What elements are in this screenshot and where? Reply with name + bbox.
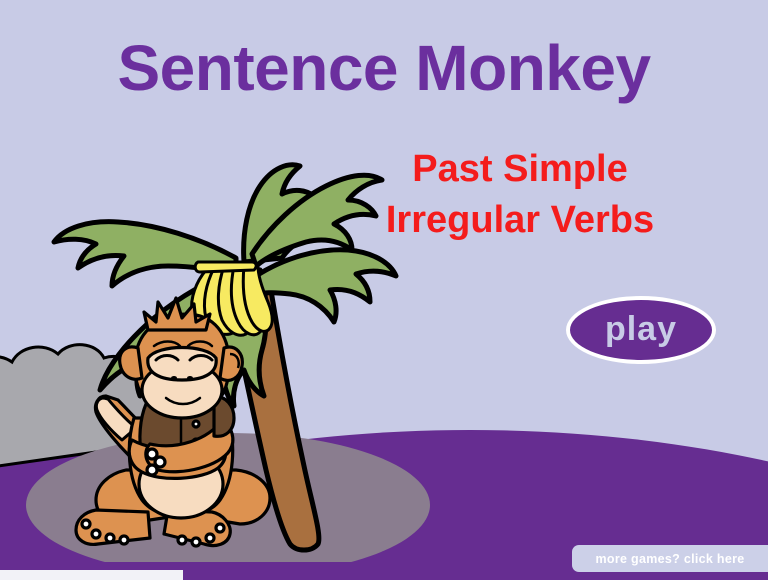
bottom-white-strip <box>0 570 183 580</box>
more-games-label: more games? click here <box>595 552 744 566</box>
monkey-nostril-right <box>187 376 193 380</box>
monkey-brow-area <box>148 348 216 381</box>
game-start-screen: Sentence Monkey Past Simple Irregular Ve… <box>0 0 768 580</box>
more-games-button[interactable]: more games? click here <box>572 545 768 572</box>
subtitle-line-1: Past Simple <box>330 144 710 195</box>
play-button-label: play <box>605 312 677 349</box>
game-subtitle: Past Simple Irregular Verbs <box>330 144 710 247</box>
monkey-left-ear <box>120 347 142 379</box>
monkey-left-foot <box>76 510 150 544</box>
subtitle-line-2: Irregular Verbs <box>330 195 710 246</box>
monkey-nostril-left <box>171 376 177 380</box>
play-button[interactable]: play <box>566 296 716 364</box>
game-title: Sentence Monkey <box>0 36 768 101</box>
